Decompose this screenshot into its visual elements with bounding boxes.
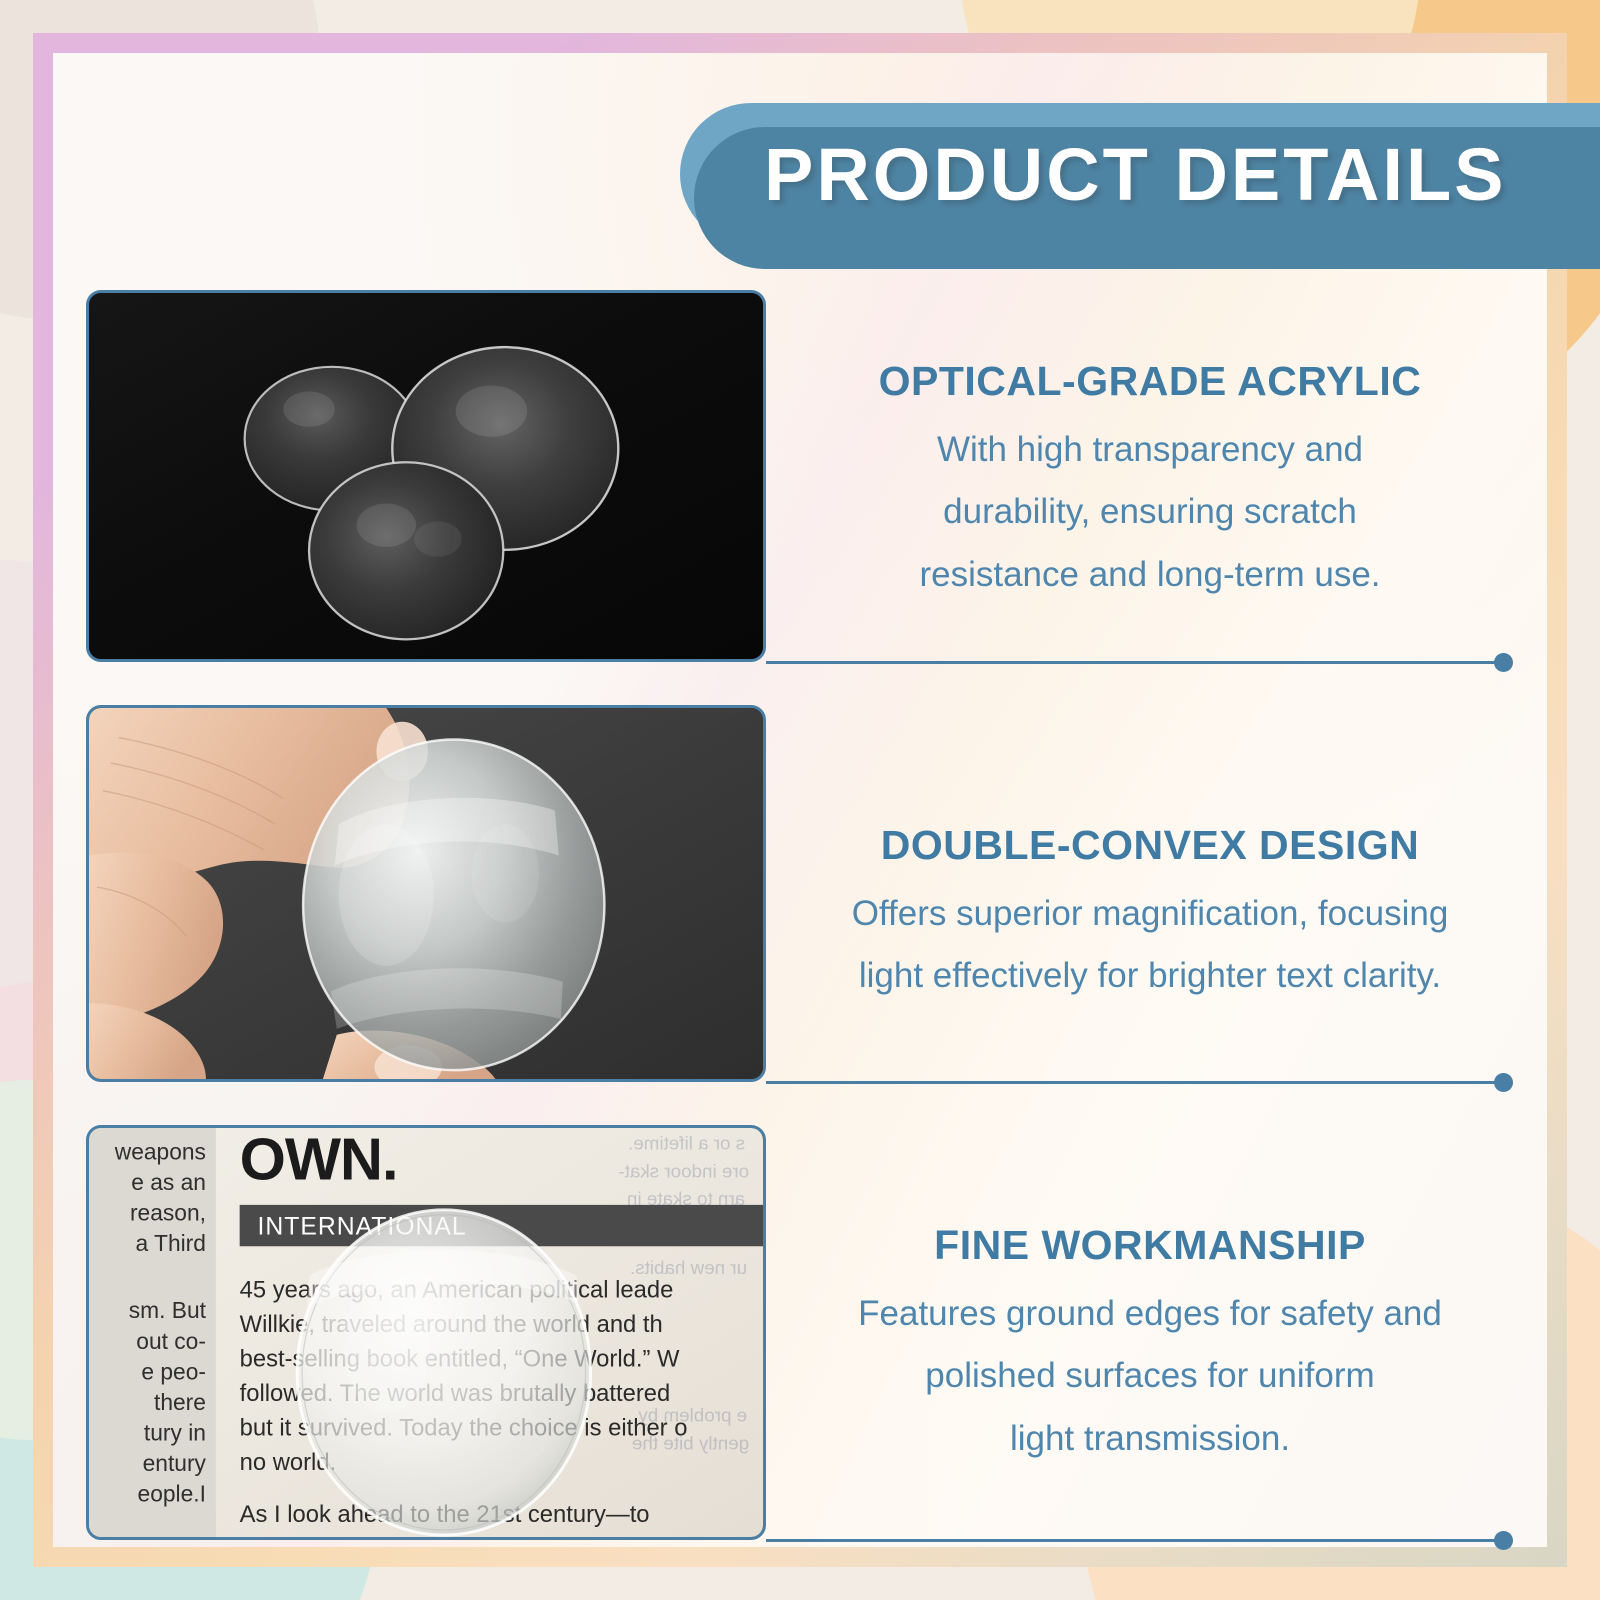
connector-line-2: [766, 1081, 1504, 1084]
svg-text:ur new habits.: ur new habits.: [630, 1257, 747, 1278]
feature-text-1: OPTICAL-GRADE ACRYLIC With high transpar…: [800, 358, 1500, 606]
svg-text:OWN.: OWN.: [240, 1128, 398, 1192]
svg-text:s or a lifetime.: s or a lifetime.: [628, 1133, 745, 1154]
feature-desc-line: durability, ensuring scratch: [800, 481, 1500, 543]
svg-text:tury in: tury in: [144, 1419, 206, 1445]
feature-title-2: DOUBLE-CONVEX DESIGN: [800, 822, 1500, 869]
connector-line-1: [766, 661, 1504, 664]
svg-text:reason,: reason,: [130, 1200, 206, 1226]
lens-magnifying-newspaper-photo: weapons e as an reason, a Third sm. But …: [86, 1125, 766, 1540]
feature-title-3: FINE WORKMANSHIP: [800, 1222, 1500, 1269]
svg-text:e peo-: e peo-: [141, 1358, 206, 1384]
feature-desc-line: resistance and long-term use.: [800, 544, 1500, 606]
three-acrylic-lenses-on-black-photo: [86, 290, 766, 662]
svg-text:e as an: e as an: [131, 1169, 206, 1195]
page-title-banner: PRODUCT DETAILS: [680, 103, 1600, 245]
connector-dot-3: [1494, 1531, 1513, 1550]
feature-desc-line: Features ground edges for safety and: [800, 1283, 1500, 1345]
feature-title-1: OPTICAL-GRADE ACRYLIC: [800, 358, 1500, 405]
svg-text:a Third: a Third: [135, 1230, 206, 1256]
svg-text:out co-: out co-: [136, 1328, 206, 1354]
svg-text:sm. But: sm. But: [129, 1297, 207, 1323]
svg-text:eople.I: eople.I: [138, 1481, 206, 1507]
hand-holding-lens-photo: [86, 705, 766, 1082]
connector-dot-1: [1494, 653, 1513, 672]
feature-text-2: DOUBLE-CONVEX DESIGN Offers superior mag…: [800, 822, 1500, 1008]
feature-desc-line: Offers superior magnification, focusing: [800, 883, 1500, 945]
svg-text:weapons: weapons: [114, 1139, 206, 1165]
feature-desc-line: With high transparency and: [800, 419, 1500, 481]
svg-text:there: there: [154, 1389, 206, 1415]
feature-desc-line: light effectively for brighter text clar…: [800, 945, 1500, 1007]
svg-text:entury: entury: [143, 1450, 207, 1476]
page-title: PRODUCT DETAILS: [764, 132, 1507, 217]
feature-description-2: Offers superior magnification, focusing …: [800, 883, 1500, 1008]
svg-text:ore indoor skat-: ore indoor skat-: [618, 1160, 749, 1181]
feature-text-3: FINE WORKMANSHIP Features ground edges f…: [800, 1222, 1500, 1470]
feature-description-3: Features ground edges for safety and pol…: [800, 1283, 1500, 1470]
connector-dot-2: [1494, 1073, 1513, 1092]
feature-description-1: With high transparency and durability, e…: [800, 419, 1500, 606]
connector-line-3: [766, 1539, 1504, 1542]
feature-desc-line: light transmission.: [800, 1408, 1500, 1470]
feature-desc-line: polished surfaces for uniform: [800, 1345, 1500, 1407]
